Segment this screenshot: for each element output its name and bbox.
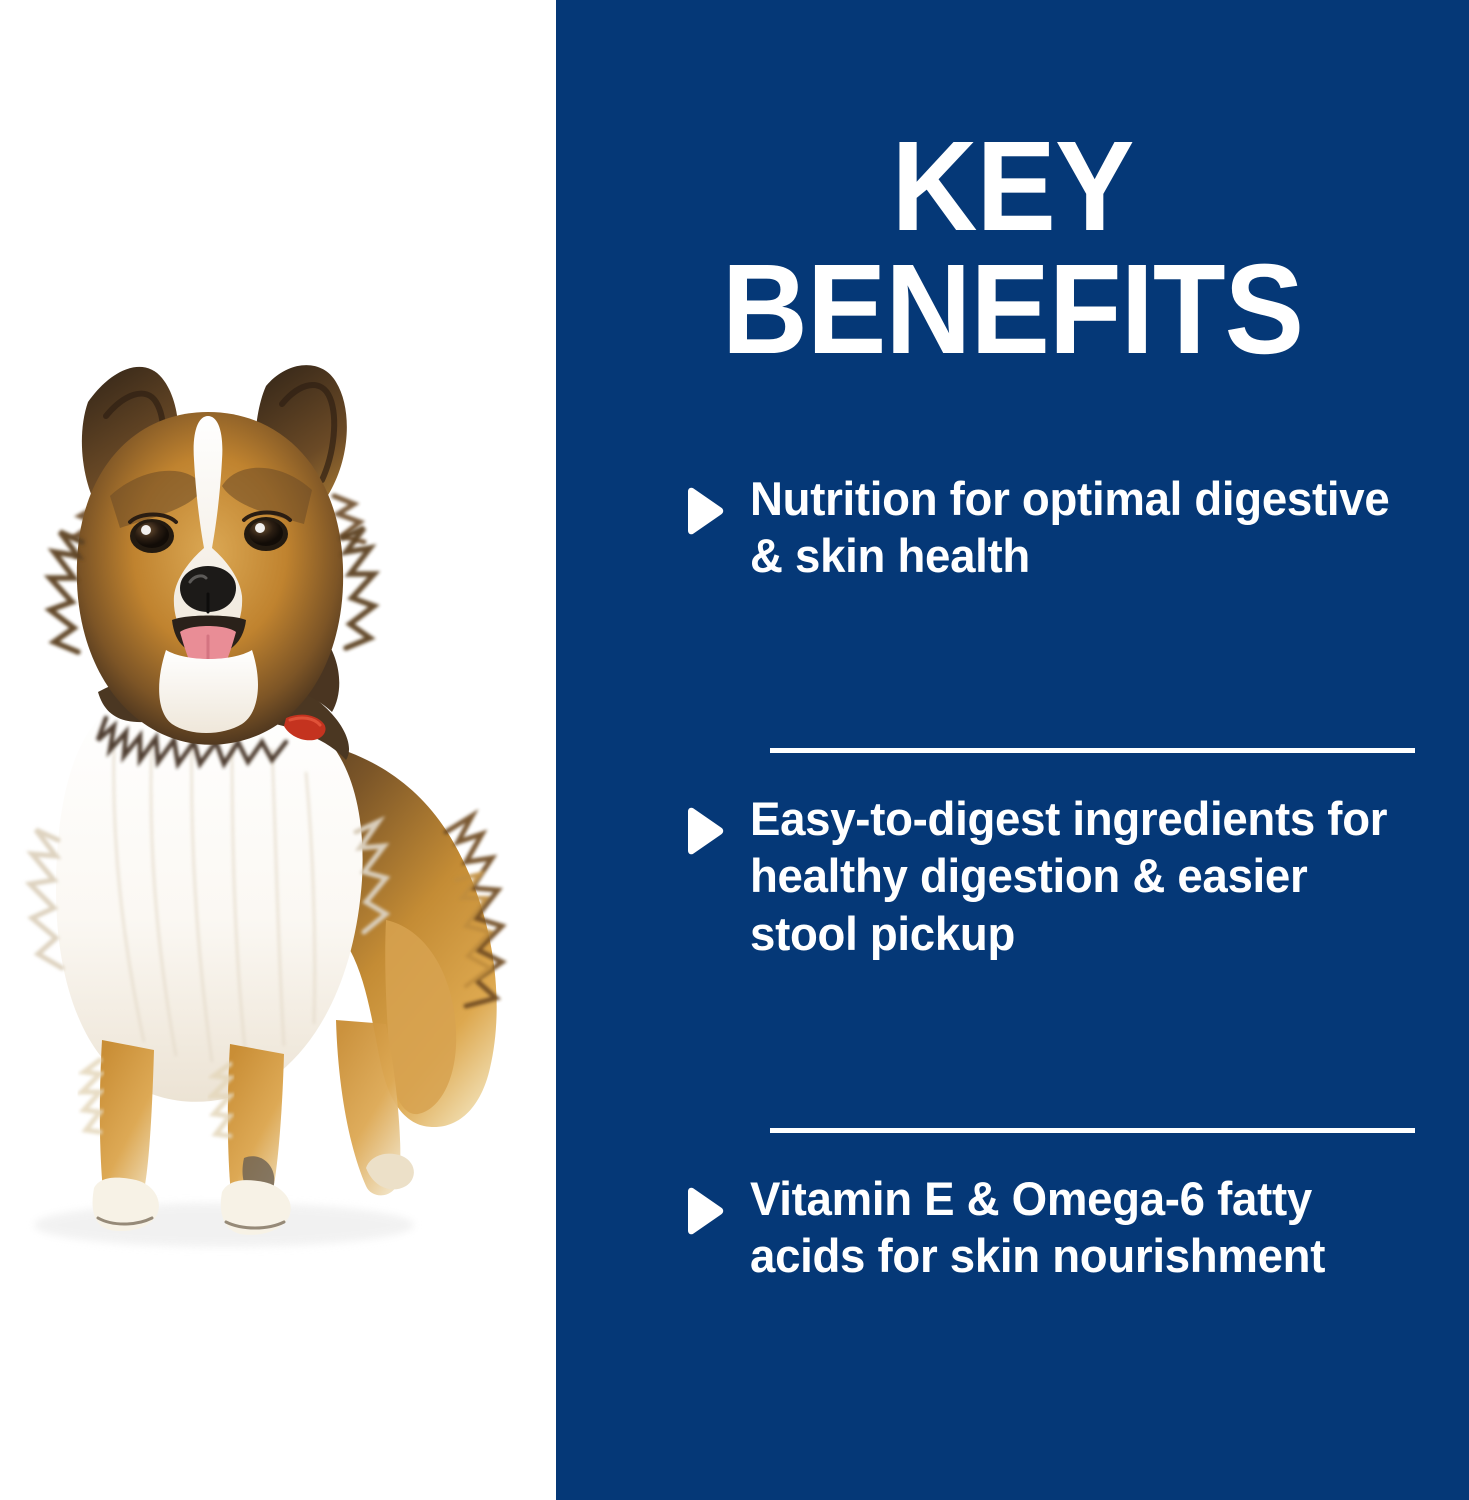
dog-photo-stage: Sable and white Shetland Sheepdog standi… — [0, 0, 556, 1500]
benefit-text: Easy-to-digest ingredients for healthy d… — [750, 790, 1402, 962]
dog-nose — [180, 566, 236, 612]
play-triangle-icon — [682, 486, 726, 538]
panel-title-line-1: KEY — [588, 126, 1437, 249]
key-benefits-panel: KEY BENEFITS Nutrition for optimal diges… — [556, 0, 1469, 1500]
benefit-text: Nutrition for optimal digestive & skin h… — [750, 470, 1402, 585]
panel-title: KEY BENEFITS — [588, 126, 1437, 372]
benefit-item: Nutrition for optimal digestive & skin h… — [682, 470, 1422, 585]
benefit-item: Vitamin E & Omega-6 fatty acids for skin… — [682, 1170, 1422, 1285]
benefit-item: Easy-to-digest ingredients for healthy d… — [682, 790, 1422, 962]
benefit-text: Vitamin E & Omega-6 fatty acids for skin… — [750, 1170, 1402, 1285]
panel-title-line-2: BENEFITS — [588, 249, 1437, 372]
dog-photo-panel: Sable and white Shetland Sheepdog standi… — [0, 0, 556, 1500]
sheltie-dog-illustration — [0, 320, 556, 1260]
play-triangle-icon — [682, 1186, 726, 1238]
dog-head — [50, 365, 374, 745]
benefit-divider — [770, 1128, 1415, 1133]
benefit-divider — [770, 748, 1415, 753]
benefits-list: Nutrition for optimal digestive & skin h… — [556, 470, 1469, 1390]
play-triangle-icon — [682, 806, 726, 858]
key-benefits-product-panel: Sable and white Shetland Sheepdog standi… — [0, 0, 1469, 1500]
dog-front-legs — [82, 1020, 414, 1235]
